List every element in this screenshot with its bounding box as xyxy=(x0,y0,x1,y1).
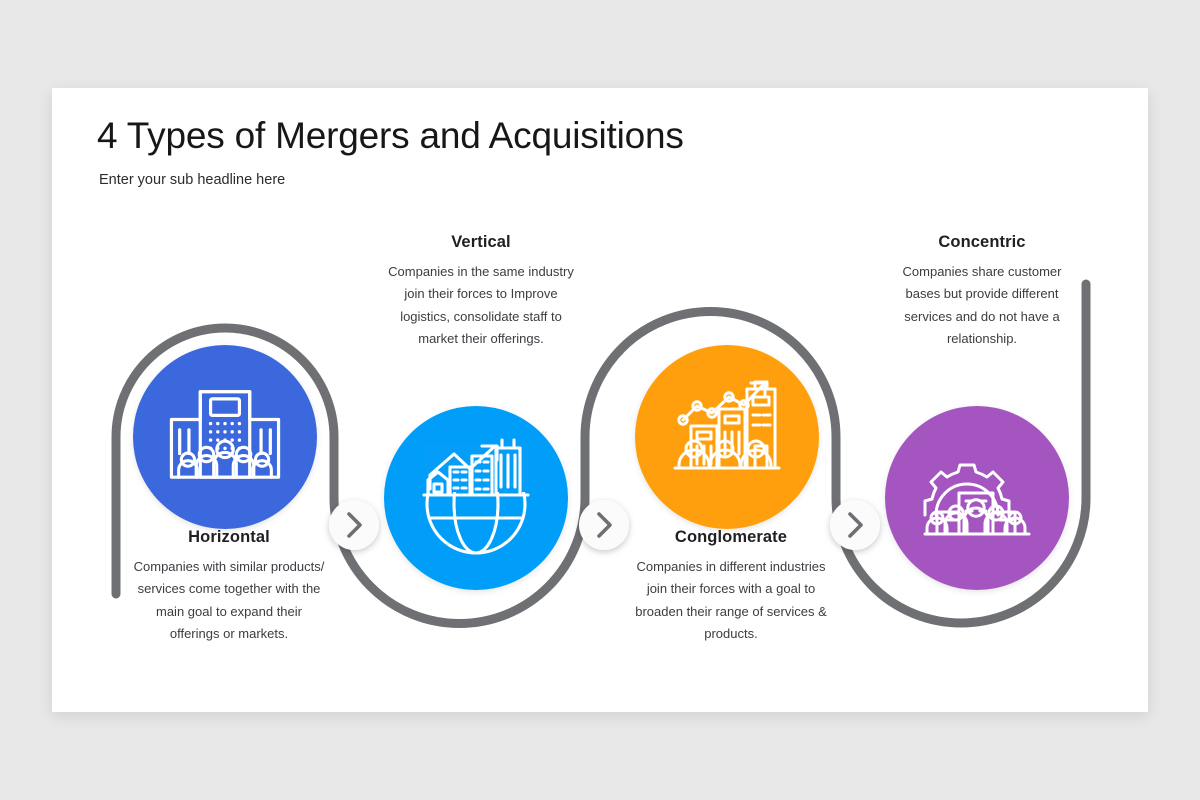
step-title-concentric: Concentric xyxy=(875,233,1089,252)
step-circle-vertical[interactable] xyxy=(384,406,568,590)
step-description-horizontal: Companies with similar products/ service… xyxy=(122,556,336,645)
step-circle-concentric[interactable] xyxy=(885,406,1069,590)
step-title-horizontal: Horizontal xyxy=(122,528,336,547)
step-description-conglomerate: Companies in different industries join t… xyxy=(624,556,838,645)
connector-chevron-1[interactable] xyxy=(329,500,379,550)
step-description-line: products. xyxy=(624,623,838,645)
step-description-line: Companies in different industries xyxy=(624,556,838,578)
step-text-vertical: Vertical Companies in the same industry … xyxy=(374,233,588,350)
step-title-vertical: Vertical xyxy=(374,233,588,252)
step-text-conglomerate: Conglomerate Companies in different indu… xyxy=(624,528,838,645)
step-description-line: Companies with similar products/ xyxy=(122,556,336,578)
step-description-line: join their forces with a goal to xyxy=(624,578,838,600)
step-description-line: market their offerings. xyxy=(374,328,588,350)
step-description-line: join their forces to Improve xyxy=(374,283,588,305)
step-description-line: Companies share customer xyxy=(875,261,1089,283)
step-description-line: main goal to expand their xyxy=(122,601,336,623)
step-description-line: relationship. xyxy=(875,328,1089,350)
step-description-line: services come together with the xyxy=(122,578,336,600)
step-text-concentric: Concentric Companies share customer base… xyxy=(875,233,1089,350)
step-text-horizontal: Horizontal Companies with similar produc… xyxy=(122,528,336,645)
connector-chevron-2[interactable] xyxy=(579,500,629,550)
step-circle-horizontal[interactable] xyxy=(133,345,317,529)
step-description-line: Companies in the same industry xyxy=(374,261,588,283)
slide-card: 4 Types of Mergers and Acquisitions Ente… xyxy=(52,88,1148,712)
step-description-line: bases but provide different xyxy=(875,283,1089,305)
step-description-line: offerings or markets. xyxy=(122,623,336,645)
step-description-line: services and do not have a xyxy=(875,306,1089,328)
step-title-conglomerate: Conglomerate xyxy=(624,528,838,547)
step-description-concentric: Companies share customer bases but provi… xyxy=(875,261,1089,350)
step-description-vertical: Companies in the same industry join thei… xyxy=(374,261,588,350)
step-description-line: logistics, consolidate staff to xyxy=(374,306,588,328)
slide-canvas: 4 Types of Mergers and Acquisitions Ente… xyxy=(0,0,1200,800)
step-description-line: broaden their range of services & xyxy=(624,601,838,623)
step-circle-conglomerate[interactable] xyxy=(635,345,819,529)
